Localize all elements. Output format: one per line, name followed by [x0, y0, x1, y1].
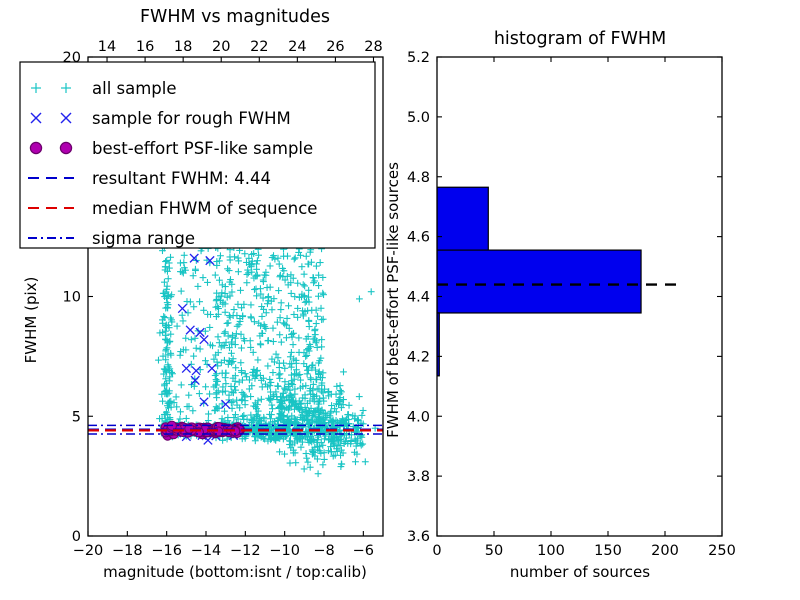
scatter-xtick-label: −20 [73, 543, 104, 559]
scatter-top-xtick-label: 16 [136, 39, 154, 55]
scatter-xtick-label: −8 [313, 543, 334, 559]
histogram-xtick-label: 200 [651, 543, 679, 559]
legend-label: best-effort PSF-like sample [92, 139, 313, 158]
legend-label: resultant FWHM: 4.44 [92, 169, 271, 188]
scatter-top-xtick-label: 28 [364, 39, 382, 55]
histogram-bar [437, 250, 641, 313]
histogram-xlabel: number of sources [510, 563, 650, 581]
histogram-ytick-label: 4.8 [407, 170, 430, 186]
legend-label: median FHWM of sequence [92, 199, 317, 218]
histogram-title: histogram of FWHM [494, 29, 666, 49]
histogram-xtick-label: 0 [432, 543, 441, 559]
histogram-ytick-label: 4.6 [407, 230, 430, 246]
scatter-top-xtick-label: 26 [326, 39, 344, 55]
scatter-ytick-label: 10 [63, 290, 81, 306]
histogram-ytick-label: 5.2 [407, 50, 430, 66]
circle-icon [30, 142, 41, 153]
histogram-ytick-label: 4.0 [407, 409, 430, 425]
circle-icon [60, 142, 71, 153]
scatter-xtick-label: −10 [269, 543, 300, 559]
scatter-top-xtick-label: 22 [250, 39, 268, 55]
scatter-top-xtick-label: 18 [174, 39, 192, 55]
histogram-xtick-label: 250 [708, 543, 736, 559]
matplotlib-figure: FWHM vs magnitudes −20−18−16−14−12−10−8−… [0, 0, 800, 600]
scatter-top-xtick-label: 20 [212, 39, 230, 55]
histogram-xtick-label: 150 [594, 543, 622, 559]
histogram-ytick-label: 4.4 [407, 290, 430, 306]
scatter-xtick-label: −14 [191, 543, 222, 559]
scatter-ytick-label: 0 [72, 529, 81, 545]
scatter-legend[interactable]: all samplesample for rough FWHMbest-effo… [20, 62, 375, 248]
histogram-ytick-label: 3.6 [407, 529, 430, 545]
histogram-ytick-label: 3.8 [407, 469, 430, 485]
histogram-ytick-label: 5.0 [407, 110, 430, 126]
scatter-ytick-label: 5 [72, 409, 81, 425]
legend-label: sample for rough FWHM [92, 109, 291, 128]
scatter-xtick-label: −18 [112, 543, 143, 559]
legend-label: all sample [92, 79, 177, 98]
scatter-xtick-label: −6 [353, 543, 374, 559]
scatter-title: FWHM vs magnitudes [140, 7, 330, 27]
scatter-top-xtick-label: 14 [98, 39, 116, 55]
figure-canvas: FWHM vs magnitudes −20−18−16−14−12−10−8−… [0, 0, 800, 600]
scatter-xtick-label: −12 [230, 543, 261, 559]
scatter-xtick-label: −16 [151, 543, 182, 559]
scatter-top-xtick-label: 24 [288, 39, 306, 55]
scatter-xlabel: magnitude (bottom:isnt / top:calib) [103, 563, 367, 581]
legend-label: sigma range [92, 229, 195, 248]
histogram-xtick-label: 50 [485, 543, 503, 559]
histogram-ylabel: FWHM of best-effort PSF-like sources [384, 162, 402, 438]
histogram-ytick-label: 4.2 [407, 349, 430, 365]
histogram-bar [437, 187, 488, 250]
histogram-xtick-label: 100 [537, 543, 565, 559]
scatter-ylabel: FWHM (pix) [22, 277, 40, 364]
